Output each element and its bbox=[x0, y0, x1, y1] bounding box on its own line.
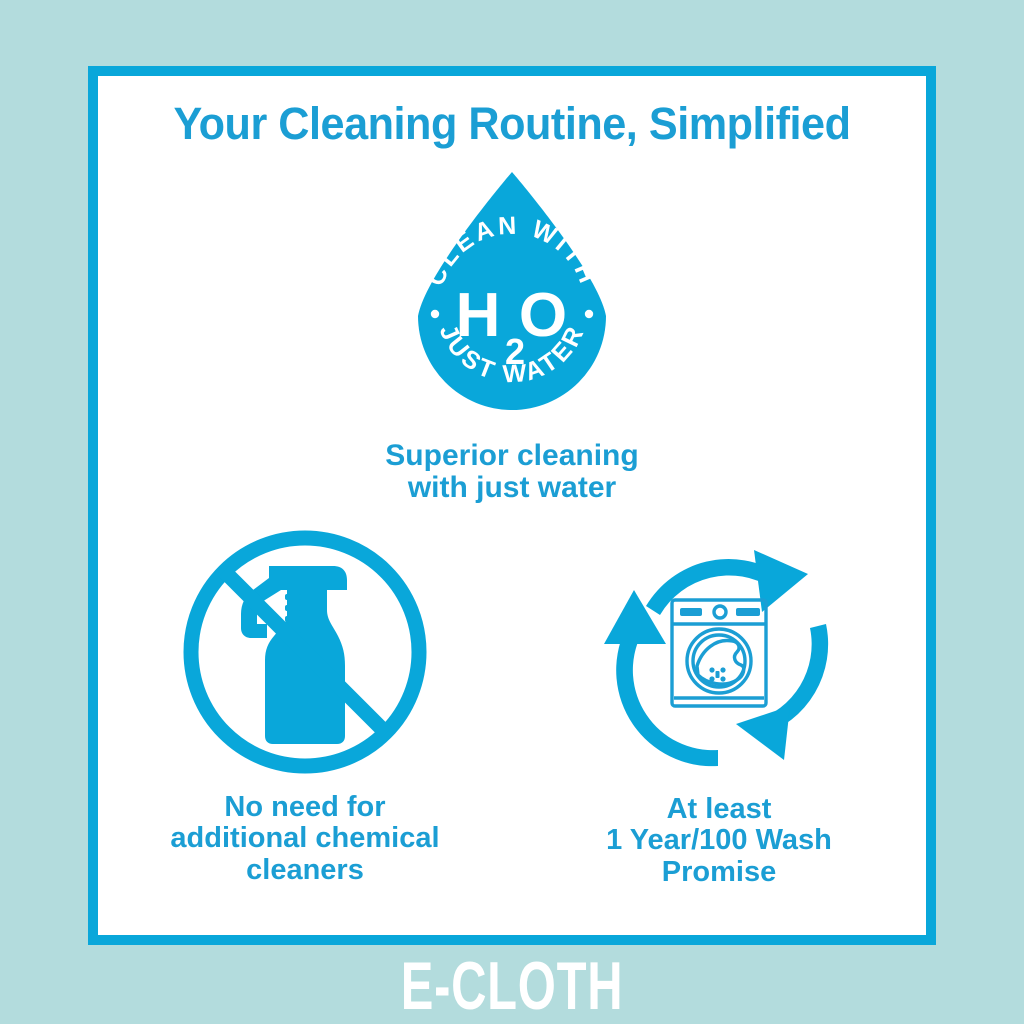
water-drop-badge-icon: CLEAN WITH JUST WATER H 2 O bbox=[402, 168, 622, 432]
feature-water-drop: CLEAN WITH JUST WATER H 2 O Superior cle… bbox=[98, 168, 926, 505]
page-title: Your Cleaning Routine, Simplified bbox=[115, 98, 910, 150]
brand-logo: E-CLOTH bbox=[143, 952, 880, 1020]
washing-machine-cycle-icon bbox=[594, 528, 844, 778]
caption-line: Superior cleaning bbox=[385, 440, 638, 472]
caption-wash-promise: At least 1 Year/100 Wash Promise bbox=[606, 794, 832, 888]
badge-formula-o: O bbox=[519, 281, 567, 350]
badge-formula-h: H bbox=[456, 281, 501, 350]
badge-left-dot-icon bbox=[431, 310, 439, 318]
caption-line: Promise bbox=[606, 857, 832, 888]
feature-row: No need for additional chemical cleaners bbox=[98, 528, 926, 888]
caption-line: cleaners bbox=[170, 855, 439, 886]
feature-wash-promise: At least 1 Year/100 Wash Promise bbox=[529, 528, 909, 888]
caption-line: additional chemical bbox=[170, 823, 439, 854]
badge-right-dot-icon bbox=[585, 310, 593, 318]
no-spray-bottle-icon bbox=[181, 528, 429, 776]
caption-line: No need for bbox=[170, 792, 439, 823]
caption-line: 1 Year/100 Wash bbox=[606, 825, 832, 856]
infographic-card: Your Cleaning Routine, Simplified CLEAN … bbox=[88, 66, 936, 945]
caption-no-chemicals: No need for additional chemical cleaners bbox=[170, 792, 439, 886]
caption-water: Superior cleaning with just water bbox=[385, 440, 638, 505]
caption-line: with just water bbox=[385, 472, 638, 504]
washing-machine-icon bbox=[672, 600, 766, 706]
caption-line: At least bbox=[606, 794, 832, 825]
cloth-dots-icon bbox=[709, 667, 725, 681]
recycle-arrows-icon bbox=[604, 550, 828, 766]
feature-no-chemicals: No need for additional chemical cleaners bbox=[115, 528, 495, 886]
